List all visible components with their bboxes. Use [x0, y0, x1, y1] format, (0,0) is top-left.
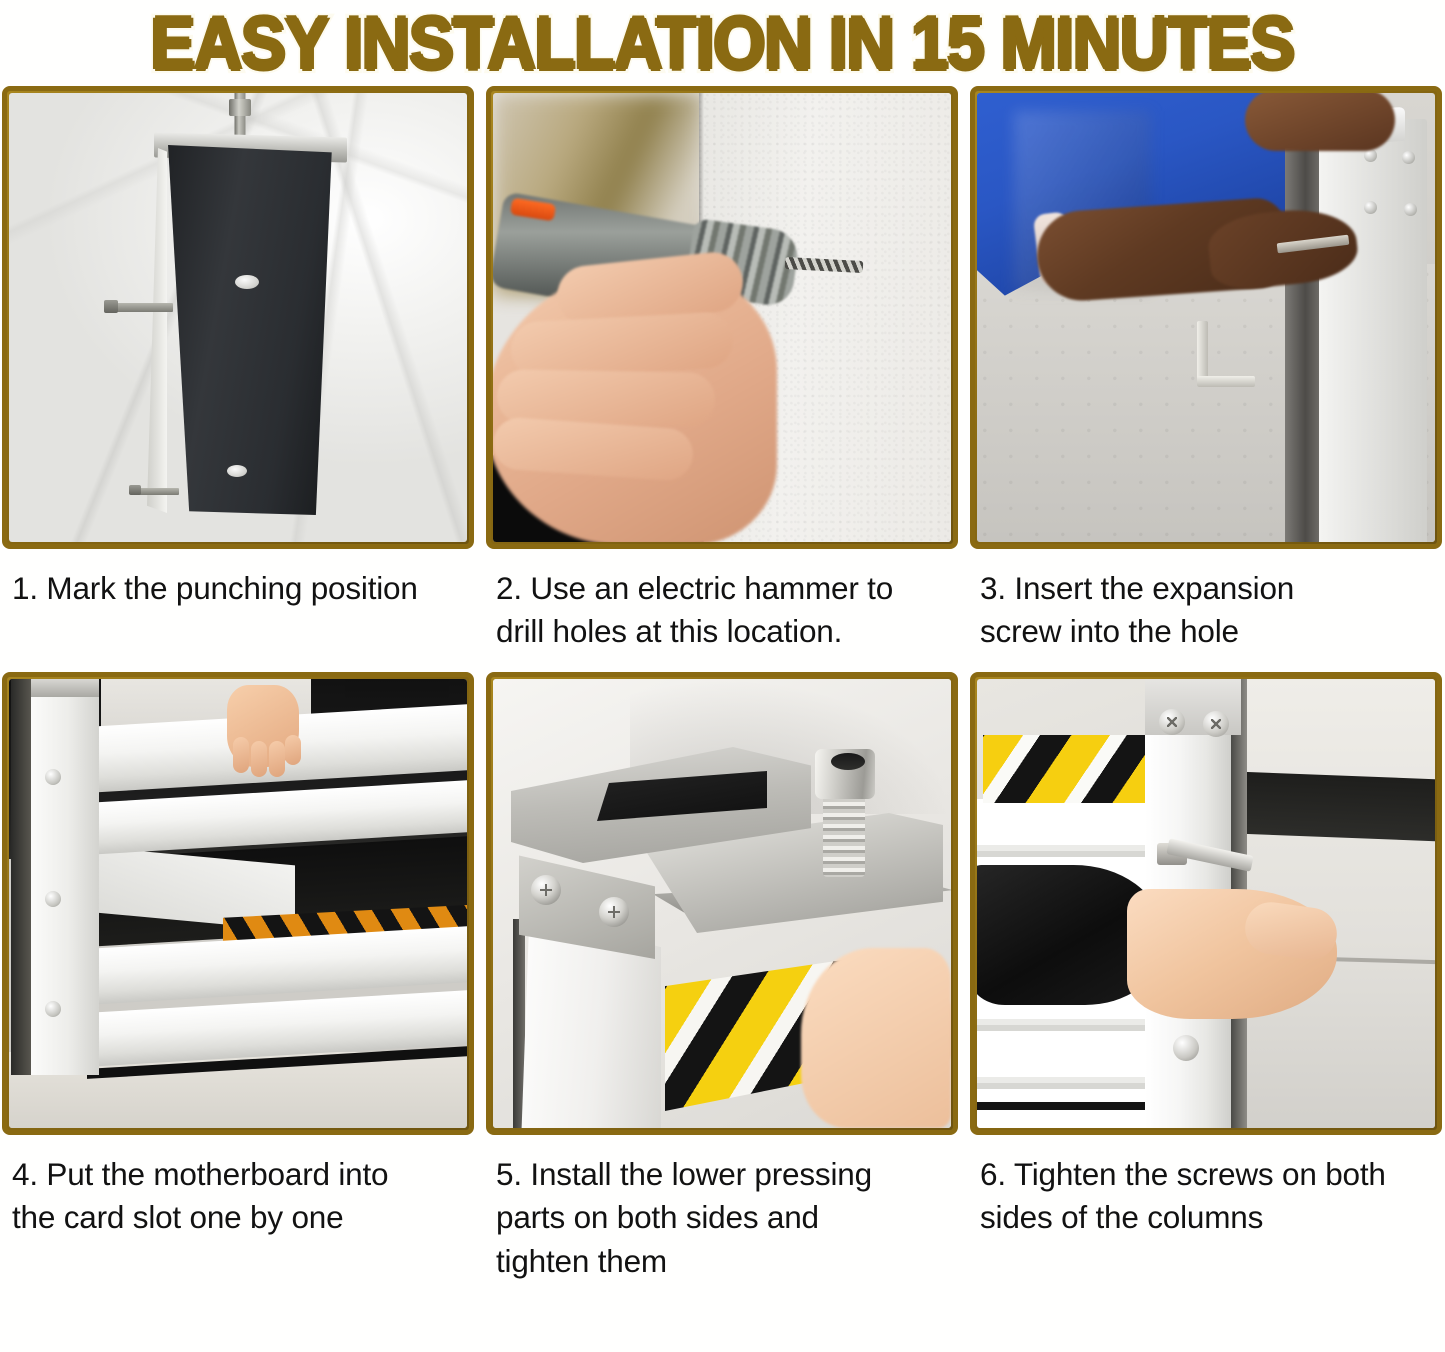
step-3-insert-expansion-screw-photo: [977, 93, 1435, 542]
phillips-screw: [1159, 709, 1185, 735]
column-screw: [45, 1001, 61, 1017]
rod-nut: [229, 99, 251, 116]
caption-line: sides of the columns: [980, 1196, 1442, 1239]
steps-row-bottom: 4. Put the motherboard into the card slo…: [0, 654, 1445, 1283]
caption-line: the card slot one by one: [12, 1196, 474, 1239]
step-4-caption: 4. Put the motherboard into the card slo…: [2, 1135, 480, 1240]
step-5-photo-frame: [486, 672, 958, 1135]
column-cap: [31, 679, 99, 697]
steps-row-top: 1. Mark the punching position: [0, 86, 1445, 654]
threaded-bolt-shaft: [823, 791, 865, 877]
finger: [269, 741, 285, 777]
step-4-photo-frame: [2, 672, 474, 1135]
step-card-5: 5. Install the lower pressing parts on b…: [486, 672, 964, 1283]
caption-line: screw into the hole: [980, 610, 1442, 653]
phillips-screw: [1203, 711, 1229, 737]
white-column-post: [1319, 119, 1427, 542]
step-1-photo-frame: [2, 86, 474, 549]
bracket-screw: [1402, 151, 1415, 164]
bracket-screw: [1404, 203, 1417, 216]
caption-line: 2. Use an electric hammer to: [496, 567, 958, 610]
dark-skirting-board: [1215, 771, 1435, 841]
dark-column-post: [161, 145, 337, 515]
step-2-caption: 2. Use an electric hammer to drill holes…: [486, 549, 964, 654]
hazard-stripe-tape: [983, 735, 1151, 803]
column-screw: [45, 769, 61, 785]
caption-line: 6. Tighten the screws on both: [980, 1153, 1442, 1196]
step-5-caption: 5. Install the lower pressing parts on b…: [486, 1135, 964, 1283]
step-card-6: 6. Tighten the screws on both sides of t…: [970, 672, 1445, 1283]
lower-column-screw: [1173, 1035, 1199, 1061]
hand-holding-board: [801, 948, 951, 1128]
step-6-tighten-screws-photo: [977, 679, 1435, 1128]
page-title: EASY INSTALLATION IN 15 MINUTES: [151, 2, 1294, 87]
caption-line: 5. Install the lower pressing: [496, 1153, 958, 1196]
step-6-photo-frame: [970, 672, 1442, 1135]
finger: [285, 735, 301, 765]
step-card-2: 2. Use an electric hammer to drill holes…: [486, 86, 964, 654]
step-1-mark-punching-position-photo: [9, 93, 467, 542]
bracket-screw: [1364, 201, 1377, 214]
caption-line: tighten them: [496, 1240, 958, 1283]
step-2-photo-frame: [486, 86, 958, 549]
white-column-slot: [31, 679, 99, 1075]
step-6-caption: 6. Tighten the screws on both sides of t…: [970, 1135, 1445, 1240]
caption-line: 1. Mark the punching position: [12, 567, 474, 610]
upper-hand: [1245, 93, 1395, 151]
anchor-stud-head-lower: [129, 485, 141, 495]
column-screw: [45, 891, 61, 907]
phillips-screw: [599, 897, 629, 927]
step-5-install-pressing-parts-photo: [493, 679, 951, 1128]
column-shadow-edge: [11, 679, 31, 1075]
finger: [251, 741, 267, 777]
step-4-insert-boards-photo: [9, 679, 467, 1128]
mounting-hole-upper: [235, 275, 259, 289]
hex-socket-hole: [831, 753, 865, 770]
step-card-4: 4. Put the motherboard into the card slo…: [2, 672, 480, 1283]
step-3-photo-frame: [970, 86, 1442, 549]
caption-line: drill holes at this location.: [496, 610, 958, 653]
anchor-stud-head-upper: [104, 300, 118, 313]
header-banner: EASY INSTALLATION IN 15 MINUTES: [0, 0, 1445, 86]
caption-line: 3. Insert the expansion: [980, 567, 1442, 610]
installation-infographic: EASY INSTALLATION IN 15 MINUTES: [0, 0, 1445, 1352]
step-card-3: 3. Insert the expansion screw into the h…: [970, 86, 1445, 654]
column-shadow-side: [1285, 133, 1319, 542]
step-card-1: 1. Mark the punching position: [2, 86, 480, 654]
finger: [510, 311, 735, 379]
finger: [233, 737, 249, 773]
phillips-screw: [531, 875, 561, 905]
caption-line: 4. Put the motherboard into: [12, 1153, 474, 1196]
step-3-caption: 3. Insert the expansion screw into the h…: [970, 549, 1445, 654]
bottom-seal-strip: [977, 1102, 1153, 1110]
step-1-caption: 1. Mark the punching position: [2, 549, 480, 610]
mounting-hole-lower: [227, 465, 247, 477]
step-2-drill-holes-photo: [493, 93, 951, 542]
caption-line: parts on both sides and: [496, 1196, 958, 1239]
allen-key-on-floor: [1197, 321, 1208, 387]
